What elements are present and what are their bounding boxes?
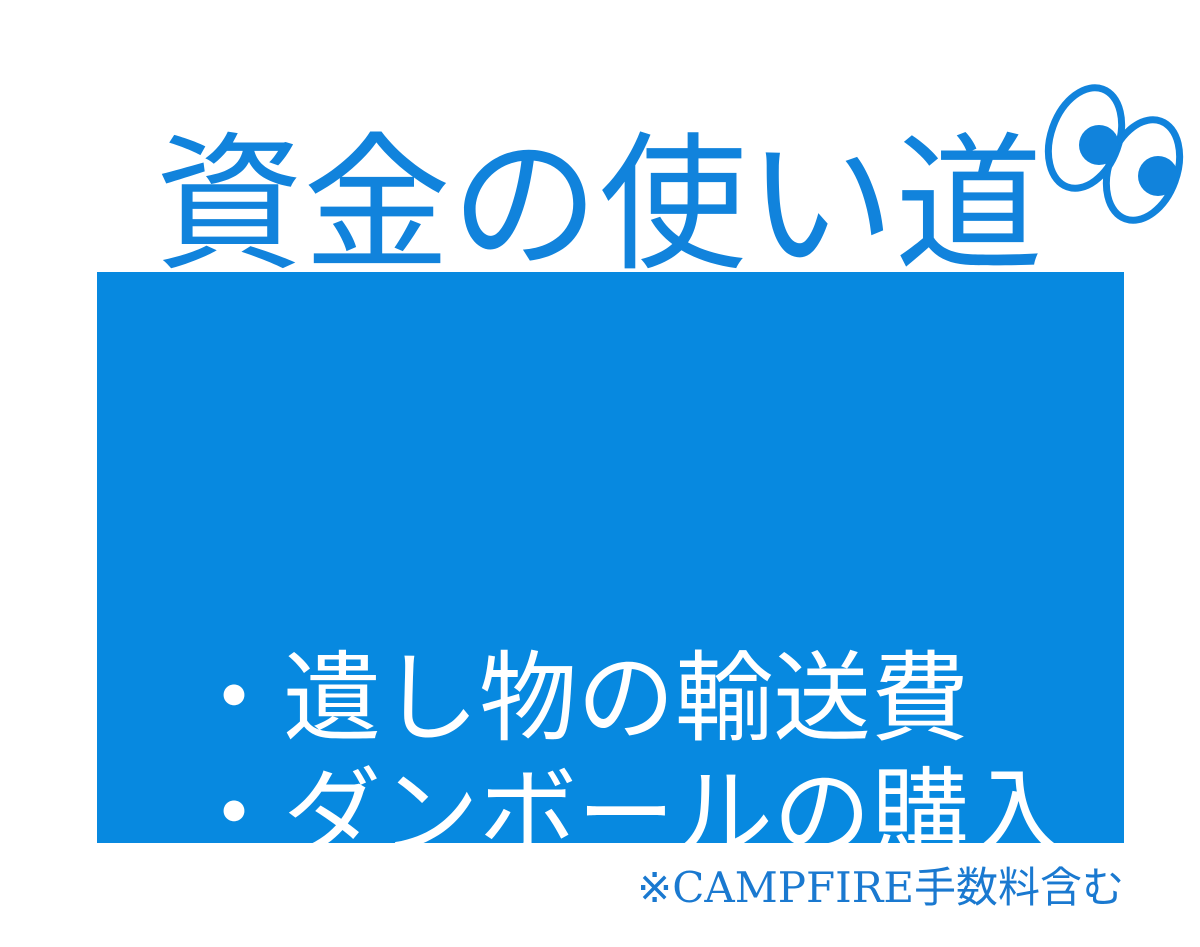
list-item: ・ダンボールの購入	[185, 757, 1125, 873]
slide-canvas: 資金の使い道 ・遺し物の輸送費 ・ダンボールの購入	[0, 0, 1200, 947]
fee-footnote: ※CAMPFIRE手数料含む	[0, 862, 1124, 914]
bullet-marker-icon: ・	[185, 757, 283, 873]
page-title: 資金の使い道	[155, 123, 1043, 289]
title-row: 資金の使い道	[0, 0, 1200, 258]
double-loop-ellipses-icon	[1028, 78, 1194, 230]
funding-usage-panel: ・遺し物の輸送費 ・ダンボールの購入 ・リターンの作成 など	[97, 272, 1124, 843]
list-item-label: 遺し物の輸送費	[283, 641, 969, 757]
list-item-label: ダンボールの購入	[283, 757, 1067, 873]
list-item: ・遺し物の輸送費	[185, 641, 1125, 757]
bullet-marker-icon: ・	[185, 641, 283, 757]
